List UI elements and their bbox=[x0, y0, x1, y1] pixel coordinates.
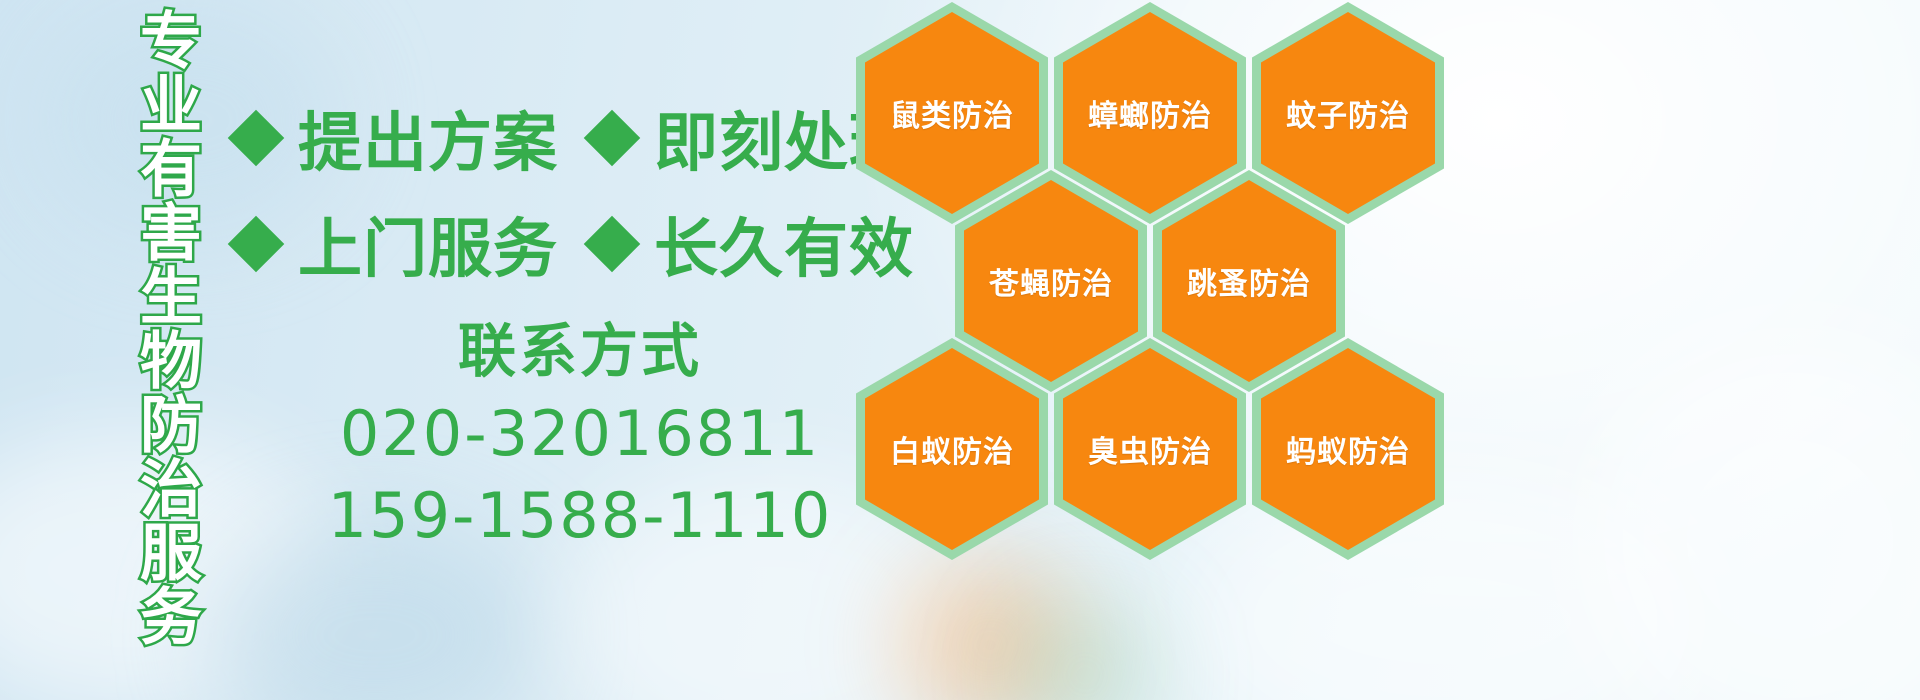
service-label: 蚂蚁防治 bbox=[1286, 427, 1410, 471]
service-label: 苍蝇防治 bbox=[989, 259, 1113, 303]
contact-title: 联系方式 bbox=[300, 318, 860, 385]
background-blur-shape bbox=[900, 560, 1080, 700]
contact-phone-landline[interactable]: 020-32016811 bbox=[300, 393, 860, 475]
service-label: 白蚁防治 bbox=[890, 427, 1014, 471]
diamond-icon bbox=[228, 216, 285, 273]
diamond-icon bbox=[228, 110, 285, 167]
feature-label: 上门服务 bbox=[298, 198, 558, 290]
service-label: 臭虫防治 bbox=[1088, 427, 1212, 471]
background-blur-shape bbox=[1580, 330, 1920, 700]
background-blur-shape bbox=[1010, 600, 1160, 700]
feature-label: 提出方案 bbox=[298, 92, 558, 184]
diamond-icon bbox=[584, 110, 641, 167]
vertical-headline: 专业有害生物防治服务 bbox=[104, 8, 196, 568]
diamond-icon bbox=[584, 216, 641, 273]
feature-list-row-2: 上门服务 长久有效 bbox=[236, 198, 914, 290]
service-hexagon-grid: 鼠类防治 蟑螂防治 蚊子防治 苍蝇防治 跳蚤防治 白蚁防治 臭虫防治 bbox=[856, 0, 1476, 554]
contact-phone-mobile[interactable]: 159-1588-1110 bbox=[300, 475, 860, 557]
contact-block: 联系方式 020-32016811 159-1588-1110 bbox=[300, 318, 860, 556]
feature-item: 上门服务 bbox=[236, 198, 592, 290]
feature-item: 提出方案 bbox=[236, 92, 592, 184]
service-label: 跳蚤防治 bbox=[1187, 259, 1311, 303]
service-label: 鼠类防治 bbox=[890, 91, 1014, 135]
service-label: 蚊子防治 bbox=[1286, 91, 1410, 135]
feature-list-row-1: 提出方案 即刻处理 bbox=[236, 92, 914, 184]
service-label: 蟑螂防治 bbox=[1088, 91, 1212, 135]
pest-control-banner: 专业有害生物防治服务 提出方案 即刻处理 上门服务 长久有效 联系方式 020-… bbox=[0, 0, 1920, 700]
